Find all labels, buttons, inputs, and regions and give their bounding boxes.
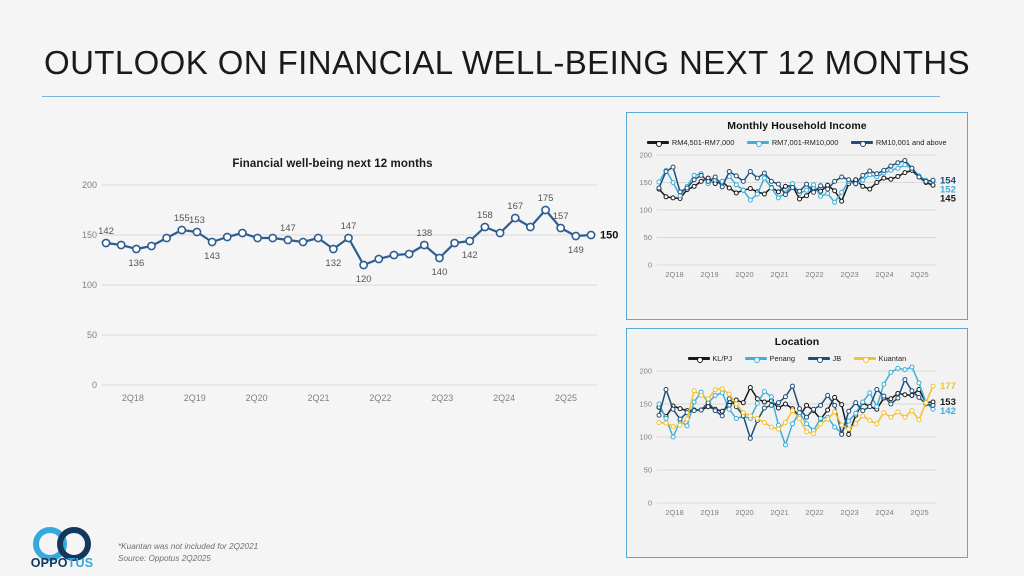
x-axis-tick-label: 2Q19 (700, 270, 718, 279)
data-point-marker (826, 417, 830, 421)
data-point-marker (776, 401, 780, 405)
data-point-marker (847, 432, 851, 436)
y-axis-tick-label: 200 (639, 151, 652, 160)
data-point-marker (798, 407, 802, 411)
data-point-label: 132 (325, 258, 341, 269)
data-point-marker (783, 402, 787, 406)
data-point-marker (889, 370, 893, 374)
data-point-marker (790, 409, 794, 413)
data-point-marker (896, 410, 900, 414)
x-axis-tick-label: 2Q20 (735, 270, 753, 279)
data-point-marker (854, 422, 858, 426)
data-point-marker (783, 443, 787, 447)
data-point-marker (776, 406, 780, 410)
data-point-marker (657, 402, 661, 406)
legend-swatch-icon (851, 141, 873, 144)
data-point-marker (833, 179, 837, 183)
data-point-marker (861, 414, 865, 418)
data-point-marker (826, 187, 830, 191)
y-axis-tick-label: 200 (82, 180, 97, 190)
data-point-marker (678, 190, 682, 194)
data-point-marker (875, 422, 879, 426)
data-point-marker (678, 407, 682, 411)
data-point-label: 175 (538, 193, 554, 204)
data-point-marker (755, 176, 759, 180)
data-point-marker (812, 407, 816, 411)
data-point-marker (762, 400, 766, 404)
data-point-marker (118, 241, 125, 248)
data-point-marker (847, 409, 851, 413)
data-point-marker (833, 425, 837, 429)
data-point-label: 138 (416, 228, 432, 239)
data-point-marker (783, 193, 787, 197)
data-point-marker (868, 187, 872, 191)
data-point-marker (776, 427, 780, 431)
x-axis-tick-label: 2Q18 (665, 508, 683, 517)
y-axis-tick-label: 0 (648, 261, 652, 270)
data-point-marker (903, 415, 907, 419)
data-point-label: 158 (477, 210, 493, 221)
x-axis-tick-label: 2Q20 (735, 508, 753, 517)
title-divider (42, 96, 940, 97)
data-point-marker (917, 175, 921, 179)
data-point-marker (734, 191, 738, 195)
data-point-marker (699, 408, 703, 412)
data-point-marker (840, 175, 844, 179)
x-axis-tick-label: 2Q24 (493, 393, 515, 403)
data-point-marker (685, 186, 689, 190)
data-point-marker (868, 405, 872, 409)
data-point-marker (805, 430, 809, 434)
data-point-marker (776, 190, 780, 194)
data-point-marker (833, 410, 837, 414)
x-axis-tick-label: 2Q25 (555, 393, 577, 403)
y-axis-tick-label: 0 (648, 499, 652, 508)
x-axis-tick-label: 2Q25 (910, 270, 928, 279)
data-point-marker (931, 178, 935, 182)
x-axis-tick-label: 2Q21 (770, 508, 788, 517)
page-title: OUTLOOK ON FINANCIAL WELL-BEING NEXT 12 … (44, 44, 970, 82)
data-point-marker (678, 417, 682, 421)
legend-swatch-icon (854, 357, 876, 360)
data-point-marker (896, 396, 900, 400)
data-point-marker (847, 419, 851, 423)
data-point-marker (133, 245, 140, 252)
data-point-marker (882, 176, 886, 180)
data-point-marker (917, 381, 921, 385)
data-point-marker (692, 400, 696, 404)
data-point-marker (664, 387, 668, 391)
data-point-marker (727, 186, 731, 190)
data-point-marker (692, 184, 696, 188)
data-point-marker (692, 409, 696, 413)
location-panel: Location KL/PJPenangJBKuantan 0501001502… (626, 328, 968, 558)
slide: OUTLOOK ON FINANCIAL WELL-BEING NEXT 12 … (0, 0, 1024, 576)
data-point-marker (706, 179, 710, 183)
data-point-marker (889, 177, 893, 181)
data-point-marker (692, 389, 696, 393)
legend-item-penang: Penang (745, 354, 795, 363)
data-point-label: 157 (553, 211, 569, 222)
financial-wellbeing-chart: Financial well-being next 12 months 0501… (60, 158, 605, 448)
data-point-marker (868, 391, 872, 395)
y-axis-tick-label: 50 (644, 233, 652, 242)
location-legend: KL/PJPenangJBKuantan (627, 354, 967, 363)
data-point-marker (854, 182, 858, 186)
data-point-marker (889, 168, 893, 172)
data-point-marker (727, 392, 731, 396)
data-point-marker (840, 190, 844, 194)
legend-label: JB (833, 354, 842, 363)
data-point-marker (706, 401, 710, 405)
data-point-marker (805, 182, 809, 186)
data-point-marker (664, 421, 668, 425)
data-point-marker (269, 234, 276, 241)
data-point-marker (748, 170, 752, 174)
data-point-marker (390, 251, 397, 258)
data-point-marker (720, 391, 724, 395)
x-axis-tick-label: 2Q21 (770, 270, 788, 279)
data-point-marker (734, 183, 738, 187)
monthly-household-income-title: Monthly Household Income (627, 120, 967, 132)
data-point-marker (819, 422, 823, 426)
data-point-label: 143 (204, 251, 220, 262)
legend-item-jb: JB (808, 354, 841, 363)
location-plot: 0501001502002Q182Q192Q202Q212Q222Q232Q24… (627, 363, 965, 539)
x-axis-tick-label: 2Q23 (431, 393, 453, 403)
data-point-marker (734, 402, 738, 406)
data-point-marker (776, 423, 780, 427)
data-point-label: 147 (341, 221, 357, 232)
legend-swatch-icon (647, 141, 669, 144)
legend-label: Kuantan (879, 354, 907, 363)
data-point-marker (762, 176, 766, 180)
data-point-marker (451, 239, 458, 246)
data-point-marker (512, 214, 519, 221)
data-point-marker (819, 194, 823, 198)
data-point-marker (102, 239, 109, 246)
series-end-label: 177 (940, 381, 956, 392)
y-axis-tick-label: 50 (644, 466, 652, 475)
data-point-marker (657, 420, 661, 424)
data-point-marker (819, 417, 823, 421)
legend-swatch-icon (808, 357, 830, 360)
legend-swatch-icon (747, 141, 769, 144)
data-point-marker (224, 233, 231, 240)
legend-swatch-icon (745, 357, 767, 360)
data-point-marker (903, 393, 907, 397)
data-point-marker (699, 179, 703, 183)
x-axis-tick-label: 2Q19 (184, 393, 206, 403)
data-point-marker (861, 184, 865, 188)
y-axis-tick-label: 100 (639, 433, 652, 442)
data-point-marker (896, 166, 900, 170)
data-point-marker (699, 173, 703, 177)
data-point-marker (861, 173, 865, 177)
data-point-marker (882, 411, 886, 415)
data-point-marker (840, 423, 844, 427)
data-point-marker (481, 223, 488, 230)
data-point-marker (178, 226, 185, 233)
data-point-marker (931, 407, 935, 411)
data-point-marker (783, 420, 787, 424)
data-point-marker (375, 255, 382, 262)
footnote-line-1: *Kuantan was not included for 2Q2021 (118, 541, 258, 553)
data-point-marker (798, 197, 802, 201)
data-point-marker (254, 234, 261, 241)
data-point-marker (903, 163, 907, 167)
data-point-marker (436, 254, 443, 261)
x-axis-tick-label: 2Q22 (369, 393, 391, 403)
data-point-marker (542, 206, 549, 213)
data-point-marker (755, 192, 759, 196)
data-point-marker (776, 196, 780, 200)
footnote: *Kuantan was not included for 2Q2021 Sou… (118, 541, 258, 565)
data-point-marker (762, 420, 766, 424)
data-point-marker (875, 181, 879, 185)
data-point-label: 153 (189, 215, 205, 226)
data-point-marker (931, 403, 935, 407)
x-axis-tick-label: 2Q18 (665, 270, 683, 279)
data-point-marker (805, 415, 809, 419)
data-point-marker (671, 196, 675, 200)
data-point-marker (847, 178, 851, 182)
data-point-marker (889, 402, 893, 406)
data-point-marker (713, 409, 717, 413)
data-point-marker (833, 200, 837, 204)
data-point-marker (664, 417, 668, 421)
legend-item-rm10-001-and-above: RM10,001 and above (851, 138, 946, 147)
data-point-marker (840, 199, 844, 203)
data-point-marker (741, 401, 745, 405)
data-point-marker (924, 179, 928, 183)
legend-swatch-icon (688, 357, 710, 360)
data-point-marker (239, 229, 246, 236)
data-point-marker (875, 172, 879, 176)
data-point-label: 142 (98, 226, 114, 237)
data-point-marker (748, 436, 752, 440)
data-point-marker (805, 194, 809, 198)
data-point-marker (889, 397, 893, 401)
data-point-marker (861, 400, 865, 404)
data-point-marker (734, 417, 738, 421)
data-point-marker (748, 187, 752, 191)
x-axis-tick-label: 2Q22 (805, 508, 823, 517)
data-point-marker (466, 237, 473, 244)
series-end-label: 150 (600, 230, 618, 242)
data-point-marker (720, 185, 724, 189)
legend-label: Penang (770, 354, 795, 363)
data-point-marker (889, 164, 893, 168)
x-axis-tick-label: 2Q25 (910, 508, 928, 517)
data-point-marker (315, 234, 322, 241)
data-point-marker (819, 403, 823, 407)
footnote-line-2: Source: Oppotus 2Q2025 (118, 553, 258, 565)
y-axis-tick-label: 100 (82, 280, 97, 290)
data-point-marker (819, 184, 823, 188)
y-axis-tick-label: 150 (639, 178, 652, 187)
financial-wellbeing-plot: 0501001502002Q182Q192Q202Q212Q222Q232Q24… (60, 158, 605, 448)
data-point-marker (741, 179, 745, 183)
data-point-marker (903, 378, 907, 382)
data-point-marker (882, 168, 886, 172)
data-point-marker (924, 401, 928, 405)
logo-text-light: TUS (68, 556, 94, 570)
data-point-marker (769, 179, 773, 183)
data-point-marker (896, 161, 900, 165)
data-point-marker (671, 181, 675, 185)
data-point-marker (657, 186, 661, 190)
data-point-marker (671, 424, 675, 428)
data-point-marker (557, 224, 564, 231)
data-point-marker (572, 232, 579, 239)
data-point-label: 140 (432, 267, 448, 278)
monthly-household-income-panel: Monthly Household Income RM4,501-RM7,000… (626, 112, 968, 320)
data-point-marker (882, 382, 886, 386)
data-point-marker (833, 403, 837, 407)
data-point-marker (769, 403, 773, 407)
legend-item-rm7-001-rm10-000: RM7,001-RM10,000 (747, 138, 838, 147)
data-point-marker (868, 169, 872, 173)
data-point-label: 167 (507, 201, 523, 212)
y-axis-tick-label: 100 (639, 206, 652, 215)
data-point-marker (720, 414, 724, 418)
data-point-marker (671, 435, 675, 439)
x-axis-tick-label: 2Q19 (700, 508, 718, 517)
data-point-label: 147 (280, 223, 296, 234)
x-axis-tick-label: 2Q24 (875, 508, 893, 517)
data-point-marker (148, 242, 155, 249)
data-point-marker (685, 417, 689, 421)
data-point-marker (664, 195, 668, 199)
data-point-marker (734, 174, 738, 178)
y-axis-tick-label: 200 (639, 367, 652, 376)
data-point-marker (790, 185, 794, 189)
data-point-marker (903, 368, 907, 372)
data-point-marker (861, 409, 865, 413)
data-point-marker (748, 386, 752, 390)
data-point-marker (748, 414, 752, 418)
data-point-marker (692, 178, 696, 182)
data-point-marker (762, 171, 766, 175)
data-point-marker (910, 389, 914, 393)
monthly-household-income-plot: 0501001502002Q182Q192Q202Q212Q222Q232Q24… (627, 147, 965, 302)
data-point-label: 136 (128, 258, 144, 269)
monthly-household-income-legend: RM4,501-RM7,000RM7,001-RM10,000RM10,001 … (627, 138, 967, 147)
data-point-marker (882, 394, 886, 398)
data-point-marker (360, 261, 367, 268)
data-point-marker (854, 401, 858, 405)
x-axis-tick-label: 2Q23 (840, 270, 858, 279)
data-point-marker (875, 387, 879, 391)
data-point-marker (769, 395, 773, 399)
data-point-marker (406, 250, 413, 257)
x-axis-tick-label: 2Q18 (122, 393, 144, 403)
data-point-marker (826, 192, 830, 196)
data-point-marker (903, 171, 907, 175)
series-end-label: 142 (940, 406, 956, 417)
data-point-marker (910, 409, 914, 413)
x-axis-tick-label: 2Q22 (805, 270, 823, 279)
data-point-marker (840, 432, 844, 436)
data-point-marker (699, 393, 703, 397)
data-point-marker (868, 419, 872, 423)
legend-item-rm4-501-rm7-000: RM4,501-RM7,000 (647, 138, 734, 147)
data-point-marker (762, 389, 766, 393)
series-end-label: 145 (940, 193, 957, 204)
legend-label: RM10,001 and above (876, 138, 947, 147)
data-point-marker (833, 395, 837, 399)
x-axis-tick-label: 2Q23 (840, 508, 858, 517)
data-point-marker (826, 393, 830, 397)
data-point-marker (657, 413, 661, 417)
data-point-marker (854, 411, 858, 415)
data-point-marker (345, 234, 352, 241)
data-point-marker (790, 384, 794, 388)
legend-label: RM7,001-RM10,000 (772, 138, 839, 147)
data-point-marker (861, 178, 865, 182)
data-point-marker (755, 417, 759, 421)
data-point-marker (713, 175, 717, 179)
data-point-marker (671, 165, 675, 169)
data-point-marker (706, 397, 710, 401)
data-point-marker (889, 415, 893, 419)
data-point-marker (692, 173, 696, 177)
data-point-marker (840, 403, 844, 407)
data-point-marker (812, 432, 816, 436)
data-point-marker (783, 184, 787, 188)
data-point-marker (713, 387, 717, 391)
x-axis-tick-label: 2Q20 (246, 393, 268, 403)
data-point-marker (587, 231, 594, 238)
legend-label: KL/PJ (712, 354, 732, 363)
data-point-marker (727, 170, 731, 174)
data-point-marker (741, 188, 745, 192)
legend-label: RM4,501-RM7,000 (672, 138, 734, 147)
y-axis-tick-label: 0 (92, 380, 97, 390)
y-axis-tick-label: 150 (639, 400, 652, 409)
data-point-marker (741, 411, 745, 415)
data-point-marker (931, 384, 935, 388)
data-point-marker (910, 365, 914, 369)
data-point-label: 149 (568, 245, 584, 256)
data-point-marker (805, 422, 809, 426)
data-point-marker (917, 395, 921, 399)
data-point-marker (421, 241, 428, 248)
data-point-marker (812, 183, 816, 187)
data-point-marker (299, 238, 306, 245)
data-point-marker (755, 401, 759, 405)
location-title: Location (627, 336, 967, 348)
data-point-label: 120 (356, 274, 372, 285)
data-point-marker (875, 405, 879, 409)
data-point-marker (776, 182, 780, 186)
legend-item-kl-pj: KL/PJ (688, 354, 732, 363)
data-point-marker (208, 238, 215, 245)
data-point-marker (664, 170, 668, 174)
data-point-marker (805, 403, 809, 407)
data-point-marker (193, 228, 200, 235)
data-point-marker (678, 423, 682, 427)
y-axis-tick-label: 50 (87, 330, 97, 340)
data-point-marker (527, 223, 534, 230)
data-point-marker (330, 245, 337, 252)
data-point-marker (896, 174, 900, 178)
data-point-marker (685, 424, 689, 428)
data-point-marker (163, 234, 170, 241)
data-point-marker (762, 406, 766, 410)
data-point-marker (713, 393, 717, 397)
